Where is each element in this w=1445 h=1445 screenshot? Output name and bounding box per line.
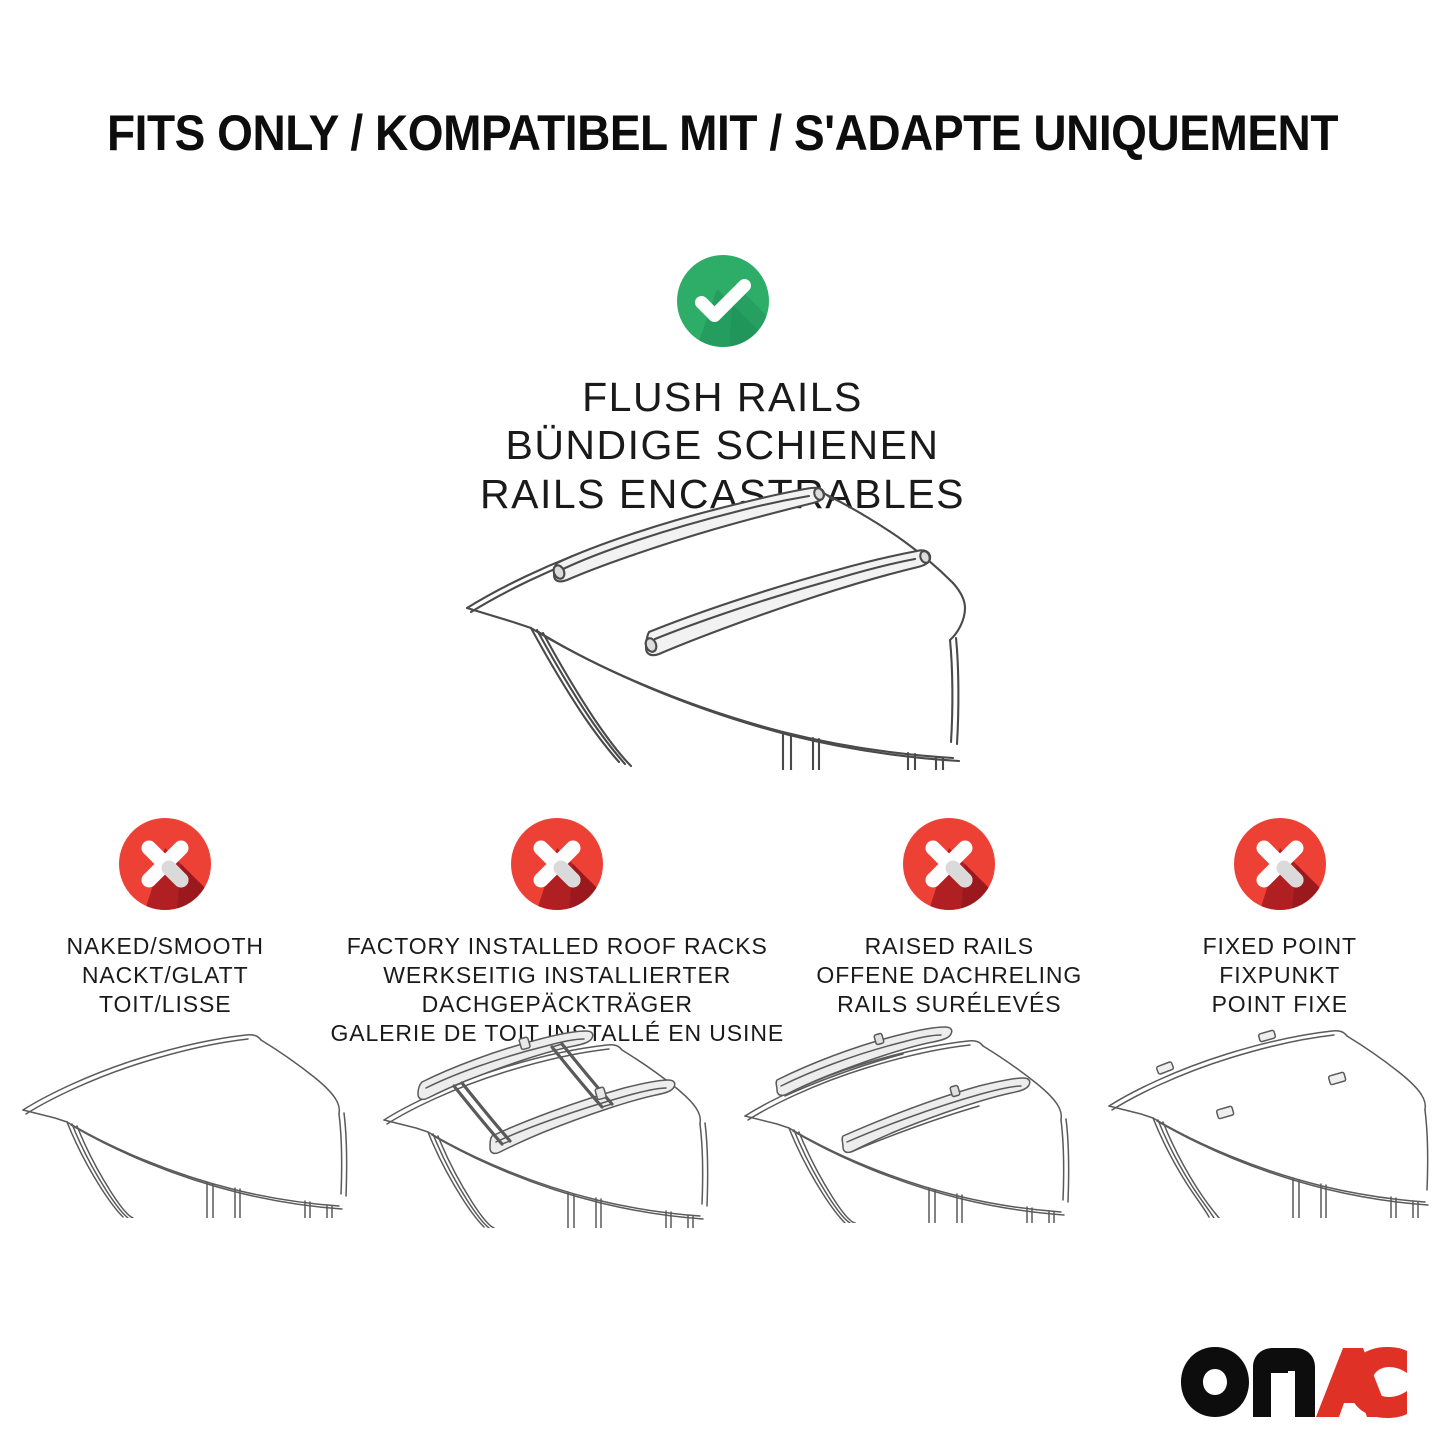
option-labels: RAISED RAILS OFFENE DACHRELING RAILS SUR… [816,932,1082,1019]
car-roof-fixed-point-illustration [1084,1018,1445,1228]
option-raised-rails: RAISED RAILS OFFENE DACHRELING RAILS SUR… [784,818,1114,1048]
option-label-de: FIXPUNKT [1203,961,1357,990]
option-label-fr: TOIT/LISSE [67,990,264,1019]
compatible-label-en: FLUSH RAILS [480,373,965,421]
option-factory-roof-racks: FACTORY INSTALLED ROOF RACKS WERKSEITIG … [330,818,784,1048]
check-badge [677,255,769,347]
compatible-label-de: BÜNDIGE SCHIENEN [480,421,965,469]
option-label-en: FACTORY INSTALLED ROOF RACKS [330,932,784,961]
cross-icon [119,818,211,910]
logo-letter-o [1181,1347,1249,1417]
option-label-fr: RAILS SURÉLEVÉS [816,990,1082,1019]
option-label-en: RAISED RAILS [816,932,1082,961]
cross-badge [511,818,603,910]
option-labels: FIXED POINT FIXPUNKT POINT FIXE [1203,932,1357,1019]
incompatible-illustrations [0,1018,1445,1228]
cross-badge [119,818,211,910]
incompatible-options: NAKED/SMOOTH NACKT/GLATT TOIT/LISSE [0,818,1445,1048]
page-title: FITS ONLY / KOMPATIBEL MIT / S'ADAPTE UN… [58,104,1387,162]
car-roof-naked-smooth-illustration [0,1018,361,1228]
option-fixed-point: FIXED POINT FIXPUNKT POINT FIXE [1115,818,1445,1048]
cross-badge [1234,818,1326,910]
option-labels: NAKED/SMOOTH NACKT/GLATT TOIT/LISSE [67,932,264,1019]
option-label-fr: POINT FIXE [1203,990,1357,1019]
car-roof-factory-roof-racks-illustration [361,1018,722,1228]
option-label-de-1: WERKSEITIG INSTALLIERTER [330,961,784,990]
cross-icon [1234,818,1326,910]
option-label-de: OFFENE DACHRELING [816,961,1082,990]
option-label-en: FIXED POINT [1203,932,1357,961]
cross-icon [903,818,995,910]
option-label-de: NACKT/GLATT [67,961,264,990]
car-roof-raised-rails-illustration [723,1018,1084,1228]
check-icon [677,255,769,347]
option-label-de-2: DACHGEPÄCKTRÄGER [330,990,784,1019]
omac-logo-mark [1175,1341,1407,1423]
omac-logo [1175,1341,1407,1423]
cross-badge [903,818,995,910]
option-label-en: NAKED/SMOOTH [67,932,264,961]
car-roof-flush-rails-illustration [0,470,1445,770]
option-naked-smooth: NAKED/SMOOTH NACKT/GLATT TOIT/LISSE [0,818,330,1048]
compatibility-infographic: FITS ONLY / KOMPATIBEL MIT / S'ADAPTE UN… [0,0,1445,1445]
cross-icon [511,818,603,910]
